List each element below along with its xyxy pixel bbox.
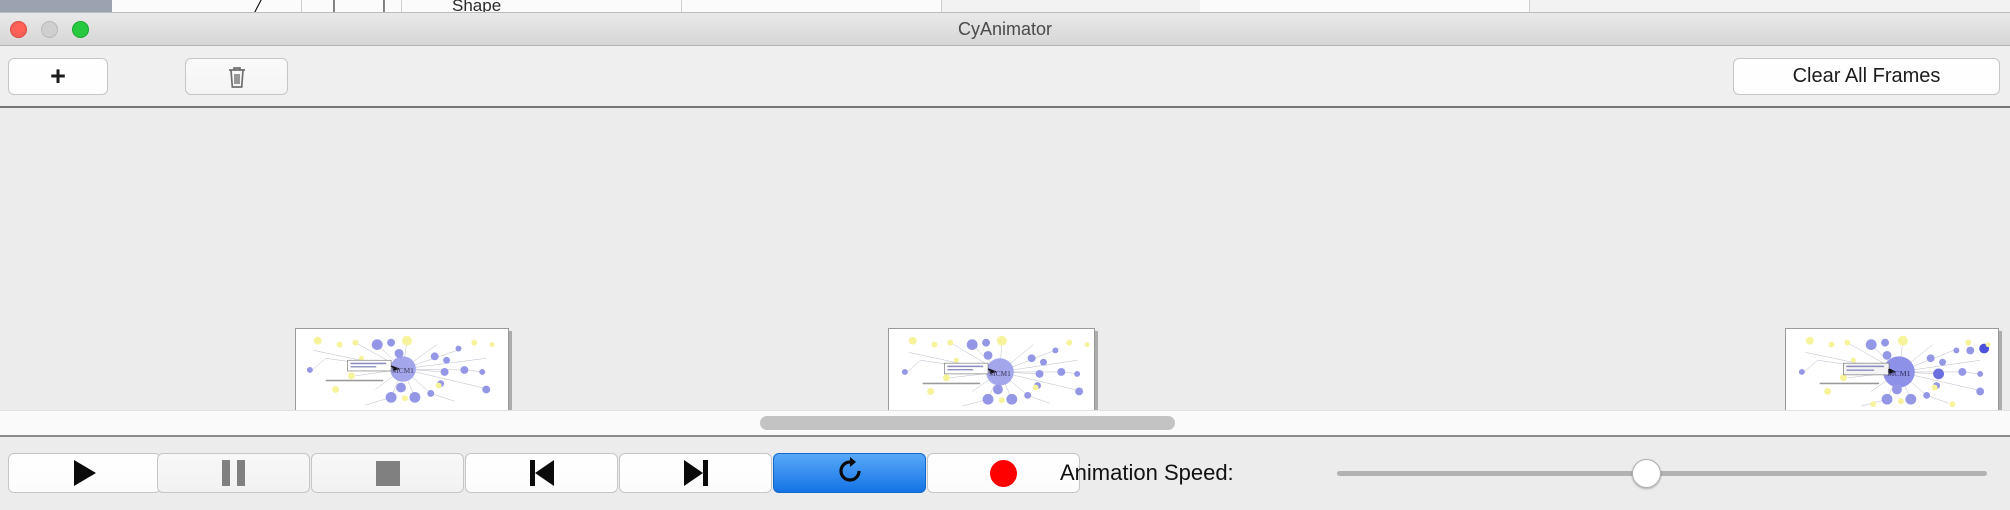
playback-bar: Animation Speed: [0, 439, 2010, 510]
network-graph-preview: MCM1 [1786, 329, 1998, 410]
background-cell [1200, 0, 1530, 13]
skip-forward-button[interactable] [619, 453, 772, 493]
toolbar: + Clear All Frames [0, 46, 2010, 108]
background-cell [112, 0, 302, 13]
background-cell [682, 0, 942, 13]
stop-icon [376, 461, 400, 486]
add-frame-button[interactable]: + [8, 58, 108, 95]
pause-button[interactable] [157, 453, 310, 493]
delete-frame-button[interactable] [185, 58, 288, 95]
animation-speed-slider-thumb[interactable] [1632, 459, 1661, 488]
clear-all-frames-label: Clear All Frames [1793, 65, 1941, 88]
loop-icon [835, 456, 865, 491]
play-icon [74, 460, 96, 486]
loop-button[interactable] [773, 453, 926, 493]
plus-icon: + [50, 63, 66, 90]
frame-thumbnail[interactable]: MCM1 [888, 328, 1095, 410]
network-graph-preview: MCM1 [296, 329, 508, 410]
record-button[interactable] [927, 453, 1080, 493]
background-window-label: Shape [452, 0, 501, 13]
svg-text:MCM1: MCM1 [989, 369, 1011, 378]
clear-all-frames-button[interactable]: Clear All Frames [1733, 58, 2000, 95]
svg-text:MCM1: MCM1 [1887, 369, 1910, 378]
stop-button[interactable] [311, 453, 464, 493]
play-button[interactable] [8, 453, 161, 493]
title-bar: CyAnimator [0, 13, 2010, 46]
frame-thumbnail[interactable]: MCM1 [1785, 328, 1999, 410]
network-graph-preview: MCM1 [889, 329, 1094, 410]
background-window-header [0, 0, 112, 13]
record-icon [990, 460, 1017, 487]
scrollbar-thumb[interactable] [760, 416, 1175, 430]
pause-icon [222, 460, 245, 486]
cyanimator-window: ╱ │ │ Shape CyAnimator + Clear All Frame… [0, 0, 2010, 510]
background-window-strip: ╱ │ │ Shape [0, 0, 2010, 13]
skip-back-button[interactable] [465, 453, 618, 493]
skip-forward-icon [684, 460, 708, 486]
svg-text:MCM1: MCM1 [392, 366, 414, 375]
skip-back-icon [530, 460, 554, 486]
animation-speed-label: Animation Speed: [1060, 453, 1234, 493]
horizontal-scrollbar[interactable] [0, 410, 2010, 437]
trash-icon [226, 65, 248, 89]
frame-thumbnail[interactable]: MCM1 [295, 328, 509, 410]
window-title: CyAnimator [0, 13, 2010, 46]
animation-speed-slider[interactable] [1337, 471, 1987, 476]
timeline-panel[interactable]: MCM1 [0, 110, 2010, 410]
background-cell [402, 0, 682, 13]
